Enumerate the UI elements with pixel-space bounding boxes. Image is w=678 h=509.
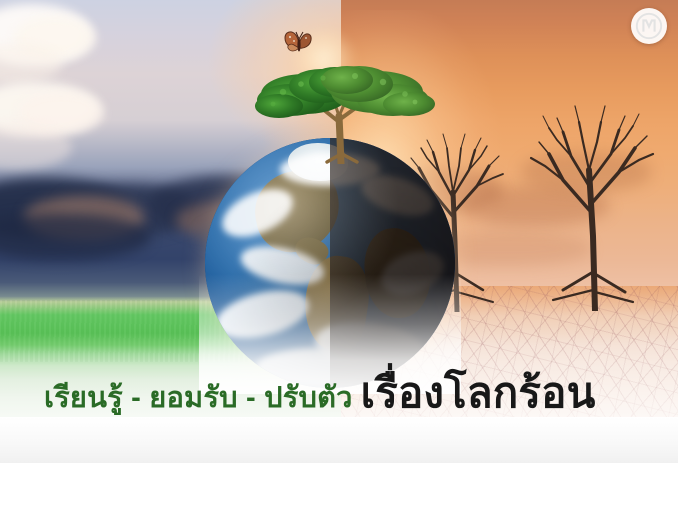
headline: เรียนรู้ - ยอมรับ - ปรับตัวเรื่องโลกร้อน <box>44 372 644 414</box>
hero-banner: เรียนรู้ - ยอมรับ - ปรับตัวเรื่องโลกร้อน <box>0 0 678 463</box>
page-root: เรียนรู้ - ยอมรับ - ปรับตัวเรื่องโลกร้อน <box>0 0 678 509</box>
m-circle-logo[interactable] <box>631 8 667 44</box>
headline-green-text: เรียนรู้ - ยอมรับ - ปรับตัว <box>44 382 353 414</box>
hero-bottom-fade <box>0 417 678 463</box>
tree-on-globe <box>243 34 443 164</box>
butterfly-icon <box>282 28 316 58</box>
storm-cloud-icon <box>0 214 150 260</box>
page-content-area <box>0 463 678 509</box>
dead-tree-icon <box>519 96 659 311</box>
headline-dark-text: เรื่องโลกร้อน <box>361 369 596 416</box>
split-earth-globe <box>205 138 455 388</box>
